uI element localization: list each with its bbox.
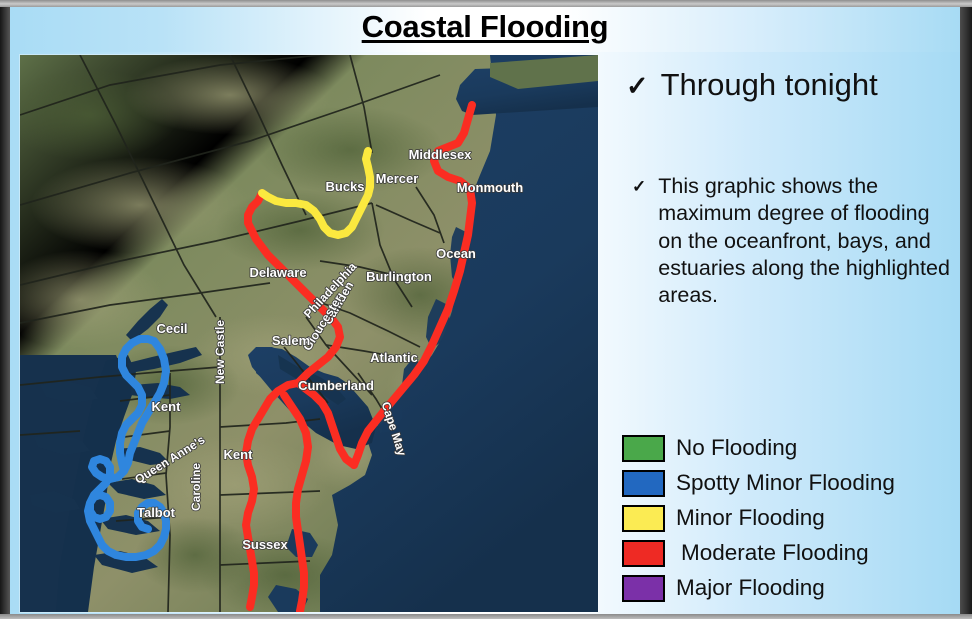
county-label: Talbot <box>137 505 176 520</box>
legend-row: Minor Flooding <box>622 501 960 536</box>
window-left-rail <box>0 0 10 619</box>
legend-swatch-minor-flooding <box>622 505 665 532</box>
check-icon: ✓ <box>632 178 646 195</box>
county-label: Burlington <box>366 269 432 284</box>
county-label: Delaware <box>249 265 306 280</box>
right-panel: ✓ Through tonight ✓ This graphic shows t… <box>610 55 960 614</box>
check-icon: ✓ <box>626 73 649 100</box>
county-label: Atlantic <box>370 350 418 365</box>
legend-label: No Flooding <box>676 437 797 460</box>
legend-row: Spotty Minor Flooding <box>622 466 960 501</box>
county-label: Bucks <box>325 179 364 194</box>
legend-label: Minor Flooding <box>676 507 825 530</box>
county-label: Sussex <box>242 537 288 552</box>
legend-row: Major Flooding <box>622 571 960 606</box>
county-label: Cecil <box>156 321 187 336</box>
flood-legend: No FloodingSpotty Minor FloodingMinor Fl… <box>622 431 960 606</box>
legend-label: Spotty Minor Flooding <box>676 472 895 495</box>
county-label: Salem <box>272 333 310 348</box>
legend-swatch-spotty-minor-flooding <box>622 470 665 497</box>
bullet-through-tonight-text: Through tonight <box>661 69 878 102</box>
legend-swatch-moderate-flooding <box>622 540 665 567</box>
window-bottom-bar <box>0 614 972 619</box>
coastal-flooding-map[interactable]: MiddlesexMercerBucksMonmouthOceanBurling… <box>20 55 598 612</box>
county-label: Ocean <box>436 246 476 261</box>
county-label: Cumberland <box>298 378 374 393</box>
county-label: Mercer <box>376 171 419 186</box>
bullet-description: ✓ This graphic shows the maximum degree … <box>632 173 952 309</box>
slide-root: Coastal Flooding <box>0 0 972 619</box>
page-title: Coastal Flooding <box>10 9 960 45</box>
legend-row: Moderate Flooding <box>622 536 960 571</box>
county-label: New Castle <box>213 320 227 384</box>
legend-swatch-major-flooding <box>622 575 665 602</box>
map-svg: MiddlesexMercerBucksMonmouthOceanBurling… <box>20 55 598 612</box>
legend-label: Moderate Flooding <box>676 542 869 565</box>
legend-swatch-no-flooding <box>622 435 665 462</box>
county-label: Kent <box>224 447 254 462</box>
county-label: Middlesex <box>409 147 473 162</box>
legend-label: Major Flooding <box>676 577 825 600</box>
county-label: Caroline <box>189 463 203 511</box>
slide-header: Coastal Flooding <box>10 7 960 52</box>
bullet-description-text: This graphic shows the maximum degree of… <box>658 173 952 309</box>
slide-canvas: Coastal Flooding <box>10 7 960 614</box>
legend-row: No Flooding <box>622 431 960 466</box>
bullet-through-tonight: ✓ Through tonight <box>626 69 956 102</box>
county-label: Kent <box>152 399 182 414</box>
county-label: Monmouth <box>457 180 523 195</box>
window-right-rail <box>960 0 972 619</box>
window-top-bar <box>0 0 972 7</box>
